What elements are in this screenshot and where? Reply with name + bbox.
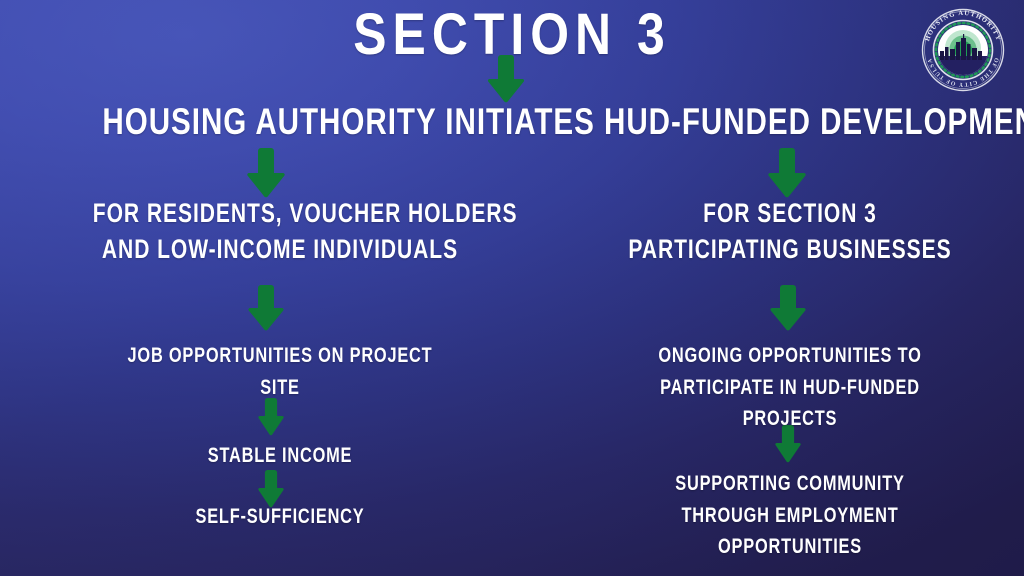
- right-branch-step-2: ONGOING OPPORTUNITIES TO PARTICIPATE IN …: [626, 340, 954, 435]
- right-branch-step-3: SUPPORTING COMMUNITY THROUGH EMPLOYMENT …: [626, 468, 954, 563]
- left-branch-step-4: SELF-SUFFICIENCY: [132, 505, 428, 530]
- left-branch-step-1: FOR RESIDENTS, VOUCHER HOLDERS AND LOW-I…: [93, 195, 467, 268]
- right-branch-step-1: FOR SECTION 3 PARTICIPATING BUSINESSES: [607, 195, 974, 268]
- infographic-canvas: SECTION 3 HOUSING AUTHORITY INITIATES HU…: [0, 0, 1024, 576]
- housing-authority-tulsa-logo: HOUSING AUTHORITY OF THE CITY OF TULSA: [917, 4, 1009, 96]
- left-branch-step-2: JOB OPPORTUNITIES ON PROJECT SITE: [116, 340, 444, 403]
- headline-text: HOUSING AUTHORITY INITIATES HUD-FUNDED D…: [102, 103, 921, 140]
- left-branch-step-3: STABLE INCOME: [140, 440, 421, 472]
- text-layer: SECTION 3 HOUSING AUTHORITY INITIATES HU…: [0, 0, 1024, 576]
- page-title: SECTION 3: [72, 6, 953, 64]
